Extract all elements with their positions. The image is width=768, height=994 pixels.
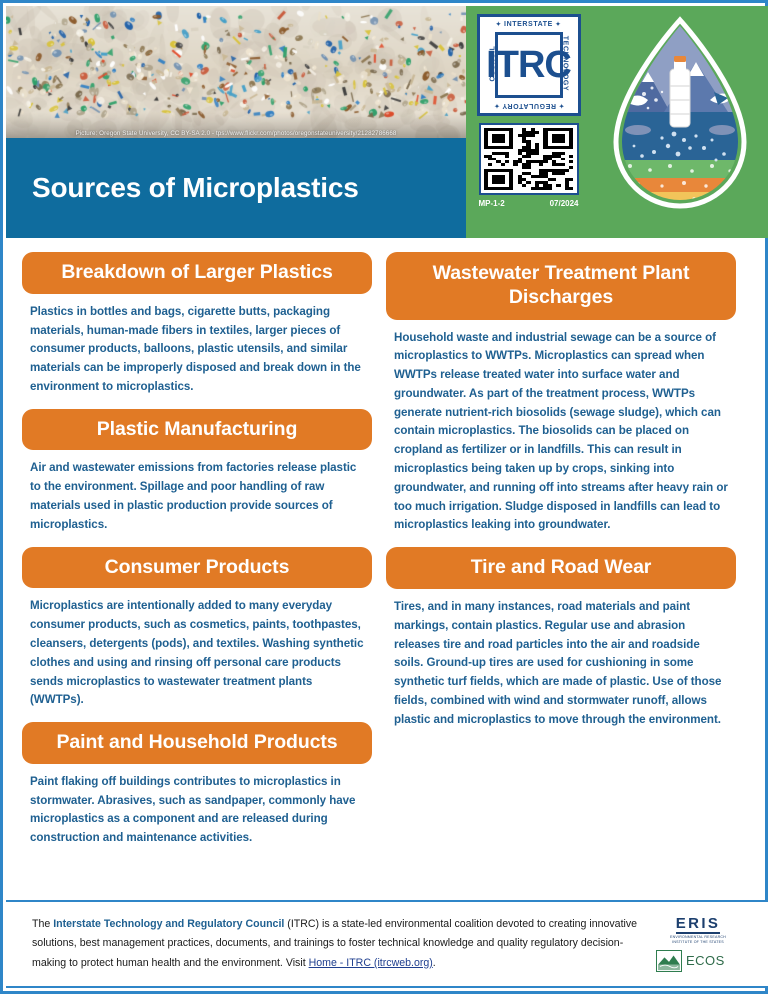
section-heading: Paint and Household Products xyxy=(22,722,372,764)
doc-id: MP-1-2 xyxy=(479,199,505,208)
section-paint-and-household-products: Paint and Household Products Paint flaki… xyxy=(22,722,372,848)
ecos-logo: ECOS xyxy=(656,950,725,972)
itrc-word-bottom-label: REGULATORY xyxy=(502,102,556,109)
header-green-panel: ✦ INTERSTATE ✦ COUNCIL TECHNOLOGY ✦ REGU… xyxy=(466,6,768,238)
section-body: Plastics in bottles and bags, cigarette … xyxy=(30,303,368,397)
star-icon: ✦ xyxy=(558,102,564,108)
section-wastewater-treatment-plant-discharges: Wastewater Treatment Plant Discharges Ho… xyxy=(386,252,736,535)
title-bar: Sources of Microplastics xyxy=(6,138,466,238)
ecos-mark-svg xyxy=(657,951,681,971)
footer-text-3: . xyxy=(433,957,436,969)
itrc-word-top-label: INTERSTATE xyxy=(504,21,553,28)
section-heading: Tire and Road Wear xyxy=(386,547,736,589)
star-icon: ✦ xyxy=(493,102,499,108)
water-droplet-icon xyxy=(604,14,756,219)
water-droplet-logo-column xyxy=(591,6,768,219)
photo-canvas xyxy=(6,6,466,138)
header-left-block: Picture: Oregon State University, CC BY-… xyxy=(6,6,466,238)
section-body: Household waste and industrial sewage ca… xyxy=(394,329,732,536)
page-footer: The Interstate Technology and Regulatory… xyxy=(6,900,768,988)
infographic-page: Picture: Oregon State University, CC BY-… xyxy=(0,0,768,994)
footer-logos: ERIS ENVIRONMENTAL RESEARCH INSTITUTE OF… xyxy=(656,916,754,972)
section-heading: Consumer Products xyxy=(22,547,372,589)
section-consumer-products: Consumer Products Microplastics are inte… xyxy=(22,547,372,710)
eris-logo-subtitle: ENVIRONMENTAL RESEARCH INSTITUTE OF THE … xyxy=(670,935,726,945)
itrc-word-interstate: ✦ INTERSTATE ✦ xyxy=(480,21,578,28)
section-heading: Plastic Manufacturing xyxy=(22,409,372,451)
eris-sub-line-1: ENVIRONMENTAL RESEARCH xyxy=(670,935,726,939)
footer-text-1: The xyxy=(32,918,53,930)
section-tire-and-road-wear: Tire and Road Wear Tires, and in many in… xyxy=(386,547,736,729)
photo-caption: Picture: Oregon State University, CC BY-… xyxy=(6,130,466,137)
doc-date: 07/2024 xyxy=(550,199,579,208)
section-body: Paint flaking off buildings contributes … xyxy=(30,773,368,848)
eris-sub-line-2: INSTITUTE OF THE STATES xyxy=(672,940,724,944)
section-body: Tires, and in many instances, road mater… xyxy=(394,598,732,729)
page-title: Sources of Microplastics xyxy=(32,172,359,204)
star-icon: ✦ xyxy=(496,22,502,28)
qr-code-grid xyxy=(484,128,574,190)
left-column: Breakdown of Larger Plastics Plastics in… xyxy=(22,252,372,906)
eris-logo: ERIS ENVIRONMENTAL RESEARCH INSTITUTE OF… xyxy=(656,916,740,945)
document-meta: MP-1-2 07/2024 xyxy=(479,199,579,208)
ecos-logo-name: ECOS xyxy=(686,953,725,968)
itrc-word-regulatory: ✦ REGULATORY ✦ xyxy=(480,102,578,109)
footer-description: The Interstate Technology and Regulatory… xyxy=(32,915,656,974)
section-plastic-manufacturing: Plastic Manufacturing Air and wastewater… xyxy=(22,409,372,535)
section-breakdown-of-larger-plastics: Breakdown of Larger Plastics Plastics in… xyxy=(22,252,372,397)
content-area: Breakdown of Larger Plastics Plastics in… xyxy=(6,238,768,906)
itrc-website-link[interactable]: Home - ITRC (itrcweb.org) xyxy=(309,957,433,969)
qr-code-icon[interactable] xyxy=(479,123,579,195)
section-heading: Breakdown of Larger Plastics xyxy=(22,252,372,294)
microplastic-particles-photo: Picture: Oregon State University, CC BY-… xyxy=(6,6,466,138)
section-body: Microplastics are intentionally added to… xyxy=(30,597,368,710)
eris-logo-name: ERIS xyxy=(676,916,721,934)
itrc-logo: ✦ INTERSTATE ✦ COUNCIL TECHNOLOGY ✦ REGU… xyxy=(477,14,581,116)
ecos-mountain-icon xyxy=(656,950,682,972)
section-body: Air and wastewater emissions from factor… xyxy=(30,459,368,534)
star-icon: ✦ xyxy=(556,22,562,28)
footer-org-name: Interstate Technology and Regulatory Cou… xyxy=(53,918,284,930)
itrc-acronym: ITRC xyxy=(495,32,563,98)
qr-code-block[interactable]: MP-1-2 07/2024 xyxy=(479,123,579,208)
right-column: Wastewater Treatment Plant Discharges Ho… xyxy=(386,252,736,906)
itrc-logo-column: ✦ INTERSTATE ✦ COUNCIL TECHNOLOGY ✦ REGU… xyxy=(466,6,591,208)
section-heading: Wastewater Treatment Plant Discharges xyxy=(386,252,736,320)
page-header: Picture: Oregon State University, CC BY-… xyxy=(6,6,768,238)
